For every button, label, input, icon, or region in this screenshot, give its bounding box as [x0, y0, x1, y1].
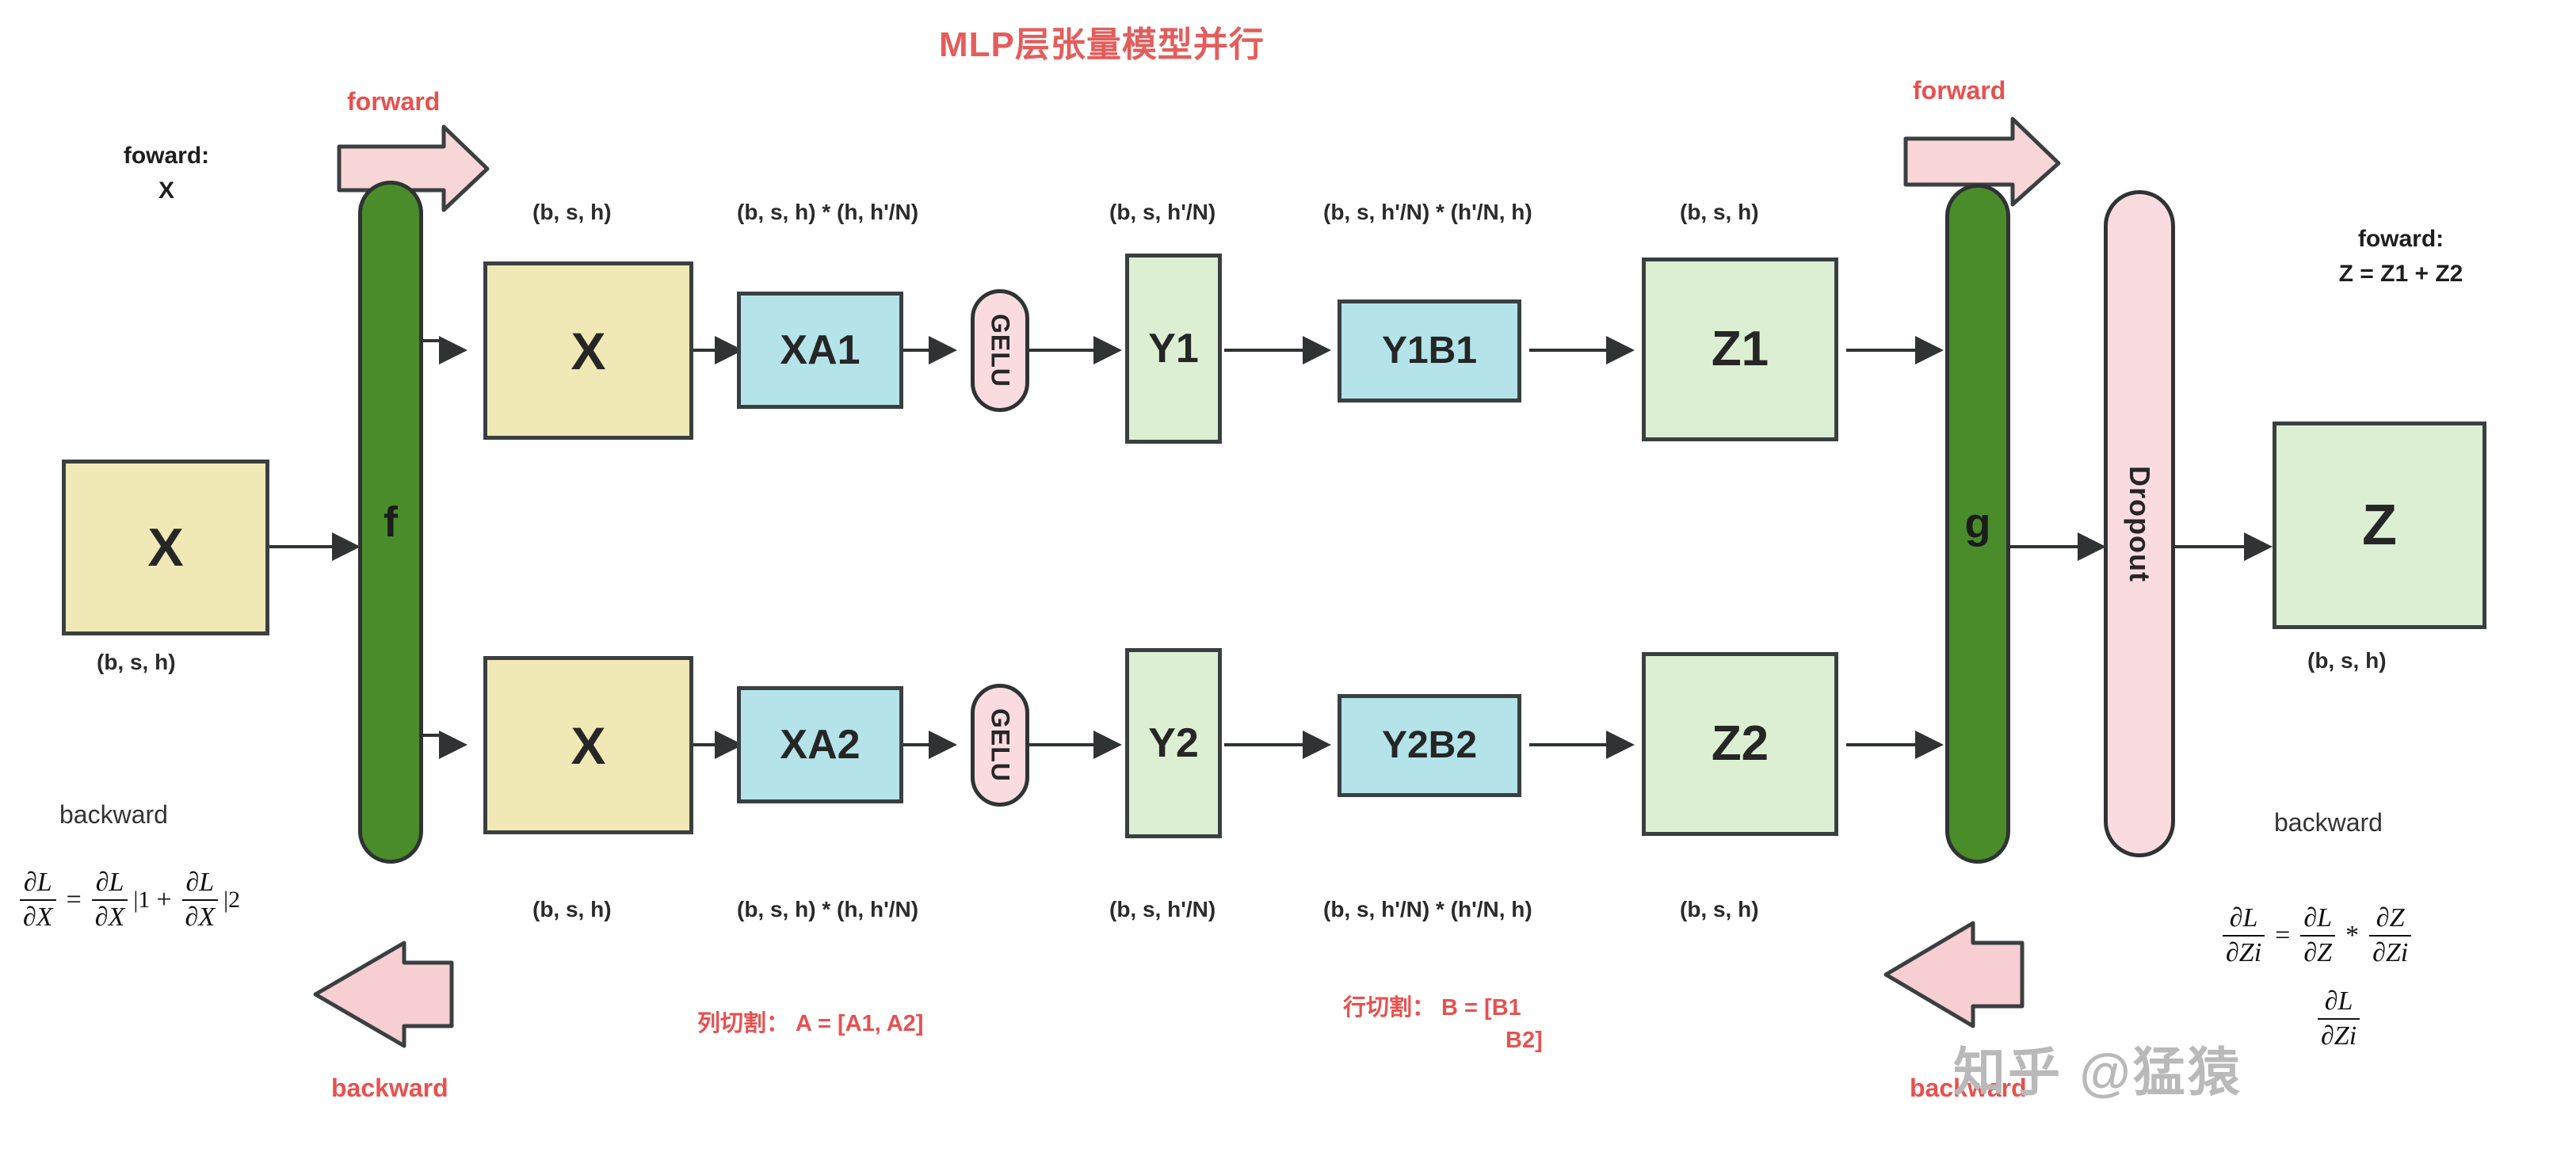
foward-input-caption: foward: X: [95, 139, 238, 208]
formula-left-equals: =: [67, 885, 82, 915]
column-split-note: 列切割： A = [A1, A2]: [697, 1008, 923, 1040]
formula-left-plus: +: [156, 885, 171, 915]
formula-left-term2-index: |2: [223, 887, 240, 914]
backward-arrow-right-shape: [1886, 923, 2022, 1026]
top-y-box: Y1: [1125, 254, 1222, 444]
bottom-yb-shape: (b, s, h'/N) * (h'/N, h): [1323, 897, 1532, 922]
bottom-y-shape: (b, s, h'/N): [1109, 897, 1215, 922]
backward-label-left: backward: [331, 1074, 448, 1103]
top-y-shape: (b, s, h'/N): [1109, 200, 1215, 225]
backward-formula-left: ∂L ∂X = ∂L ∂X |1 + ∂L ∂X |2: [16, 868, 240, 933]
backward-formula-right-second-line: ∂L ∂Zi: [2314, 986, 2364, 1051]
input-x-shape: (b, s, h): [97, 650, 176, 675]
bottom-x-shape: (b, s, h): [532, 897, 612, 922]
backward-arrow-left-shape: [315, 943, 452, 1046]
top-x-shape: (b, s, h): [532, 200, 612, 225]
bottom-gelu-label: GELU: [986, 708, 1015, 782]
g-gate-pill: g: [1945, 184, 2010, 864]
bottom-gelu-pill: GELU: [971, 684, 1029, 807]
formula-right-lhs: ∂L ∂Zi: [2223, 903, 2265, 968]
forward-label-left: forward: [347, 87, 440, 116]
top-z-box: Z1: [1642, 258, 1838, 441]
f-gate-pill: f: [358, 181, 423, 864]
output-z-box: Z: [2273, 422, 2486, 629]
forward-label-right: forward: [1913, 76, 2005, 105]
formula-right-times: *: [2345, 921, 2359, 951]
input-x-box: X: [62, 460, 269, 635]
foward-output-caption: foward: Z = Z1 + Z2: [2274, 222, 2528, 291]
formula-right-term1: ∂L ∂Z: [2300, 903, 2335, 968]
backward-note-left: backward: [59, 800, 168, 830]
bottom-xa-box: XA2: [737, 686, 903, 803]
top-gelu-label: GELU: [986, 314, 1015, 387]
diagram-canvas: MLP层张量模型并行 foward: X forward forward bac…: [0, 0, 2576, 1156]
top-xa-shape: (b, s, h) * (h, h'/N): [737, 200, 918, 225]
formula-left-lhs: ∂L ∂X: [20, 868, 56, 933]
top-yb-box: Y1B1: [1338, 299, 1521, 403]
top-x-box: X: [483, 261, 693, 440]
top-gelu-pill: GELU: [971, 289, 1029, 412]
bottom-x-box: X: [483, 656, 693, 834]
top-xa-box: XA1: [737, 292, 903, 409]
top-yb-shape: (b, s, h'/N) * (h'/N, h): [1323, 200, 1532, 225]
watermark: 知乎 @猛猿: [1953, 1030, 2242, 1106]
bottom-z-box: Z2: [1642, 652, 1838, 836]
formula-left-term1-index: |1: [133, 887, 150, 914]
row-split-note: 行切割： B = [B1 B2]: [1343, 992, 1543, 1056]
bottom-xa-shape: (b, s, h) * (h, h'/N): [737, 897, 918, 922]
formula-left-term1: ∂L ∂X: [92, 868, 128, 933]
formula-left-term2: ∂L ∂X: [182, 868, 219, 933]
dropout-label: Dropout: [2123, 466, 2156, 582]
backward-note-right: backward: [2274, 808, 2383, 837]
backward-formula-right: ∂L ∂Zi = ∂L ∂Z * ∂Z ∂Zi: [2219, 903, 2415, 968]
bottom-y-box: Y2: [1125, 648, 1222, 838]
bottom-z-shape: (b, s, h): [1680, 897, 1759, 922]
bottom-yb-box: Y2B2: [1338, 694, 1521, 797]
page-title: MLP层张量模型并行: [939, 16, 1265, 67]
output-z-shape: (b, s, h): [2307, 648, 2387, 673]
formula-right-equals: =: [2275, 921, 2290, 951]
formula-right-term2: ∂Z ∂Zi: [2369, 903, 2411, 968]
top-z-shape: (b, s, h): [1680, 200, 1759, 225]
dropout-pill: Dropout: [2104, 190, 2175, 857]
